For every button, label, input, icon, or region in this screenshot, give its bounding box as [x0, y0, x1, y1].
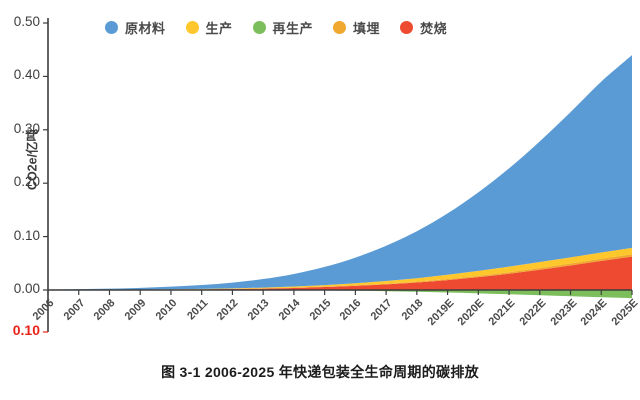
legend-item-raw_material[interactable]: 原材料	[105, 18, 166, 37]
legend-item-production[interactable]: 生产	[186, 18, 233, 37]
y-axis-tick-label: 0.30	[0, 121, 40, 136]
legend-swatch-icon	[186, 21, 199, 34]
legend-swatch-icon	[253, 21, 266, 34]
legend-swatch-icon	[333, 21, 346, 34]
legend-item-label: 原材料	[125, 18, 166, 37]
legend-item-label: 焚烧	[420, 18, 447, 37]
figure-container: CO2e/亿吨 0.500.400.300.200.100.000.10 200…	[0, 0, 640, 400]
chart-legend: 原材料生产再生产填埋焚烧	[105, 18, 467, 37]
legend-item-label: 填埋	[353, 18, 380, 37]
y-axis-tick-label: 0.20	[0, 174, 40, 189]
y-axis-tick-label: 0.40	[0, 67, 40, 82]
stacked-area-chart	[0, 0, 640, 400]
area-原材料	[48, 55, 632, 290]
y-axis-tick-label: 0.00	[0, 281, 40, 296]
legend-swatch-icon	[105, 21, 118, 34]
legend-item-incineration[interactable]: 焚烧	[400, 18, 447, 37]
legend-item-recycling[interactable]: 再生产	[253, 18, 314, 37]
y-axis-tick-label: 0.50	[0, 14, 40, 29]
legend-swatch-icon	[400, 21, 413, 34]
legend-item-label: 生产	[206, 18, 233, 37]
legend-item-landfill[interactable]: 填埋	[333, 18, 380, 37]
figure-caption: 图 3-1 2006-2025 年快递包装全生命周期的碳排放	[0, 362, 640, 382]
area-再生产	[48, 290, 632, 298]
y-axis-tick-label: 0.10	[0, 228, 40, 243]
legend-item-label: 再生产	[273, 18, 314, 37]
